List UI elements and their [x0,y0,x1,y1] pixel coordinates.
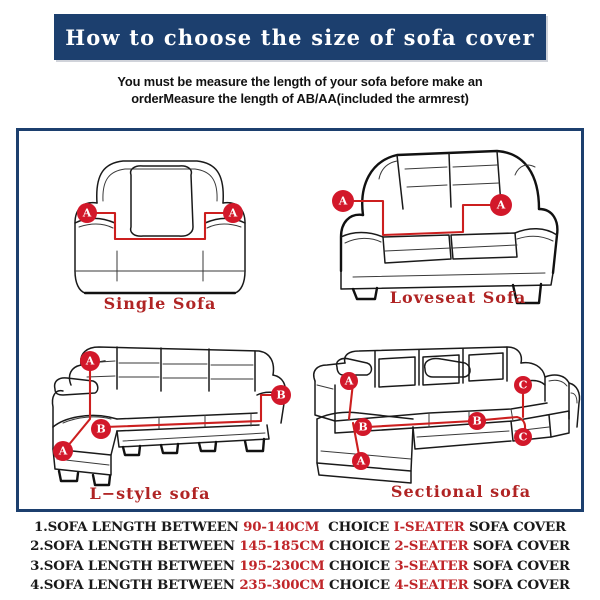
marker-a-right-label: A [228,207,238,220]
spec-list: 1.SOFA LENGTH BETWEEN 90-140CM CHOICE I-… [0,518,600,596]
spec-range: 90-140CM [243,519,319,535]
page-title: How to choose the size of sofa cover [65,25,535,50]
subtitle-line-2: orderMeasure the length of AB/AA(include… [65,90,535,107]
marker-b-middle: B [354,418,372,436]
spec-choice-word: CHOICE [329,558,390,574]
illustration-frame: A A Single Sofa [16,128,584,512]
marker-a-right: A [223,203,243,223]
marker-a-top: A [80,351,100,371]
marker-b-middle-label: B [96,423,105,436]
spec-row: 2.SOFA LENGTH BETWEEN 145-185CM CHOICE 2… [0,537,600,556]
spec-suffix: SOFA COVER [473,538,570,554]
marker-a-left: A [332,190,354,212]
single-sofa-measure-path [90,213,230,239]
title-banner: How to choose the size of sofa cover [54,14,546,60]
marker-c-top-label: C [519,379,528,392]
illustration-single-sofa: A A Single Sofa [19,131,301,323]
single-sofa-drawing [75,161,245,293]
spec-index: 1. [34,519,48,535]
marker-a-bottom: A [352,452,370,470]
spec-suffix: SOFA COVER [473,558,570,574]
spec-label: SOFA LENGTH BETWEEN [48,519,239,535]
marker-b-middle-label: B [358,421,367,434]
spec-seater: I-SEATER [394,519,465,535]
marker-a-bottom-label: A [356,455,366,468]
loveseat-measure-path [349,201,497,235]
spec-choice-word: CHOICE [329,577,390,593]
caption-single-sofa: Single Sofa [104,294,217,313]
marker-a-left-label: A [338,195,348,208]
header-banner-wrapper: How to choose the size of sofa cover [0,0,600,60]
marker-a-left: A [77,203,97,223]
subtitle-block: You must be measure the length of your s… [65,73,535,107]
caption-sectional-sofa: Sectional sofa [391,482,531,501]
marker-c-top: C [514,376,532,394]
marker-b-seat: B [468,412,486,430]
spec-seater: 4-SEATER [394,577,468,593]
spec-choice-word: CHOICE [329,538,390,554]
marker-c-right: C [514,428,532,446]
marker-c-right-label: C [519,431,528,444]
spec-label: SOFA LENGTH BETWEEN [44,538,235,554]
spec-suffix: SOFA COVER [473,577,570,593]
spec-range: 195-230CM [239,558,324,574]
marker-b-seat-label: B [472,415,481,428]
caption-loveseat-sofa: Loveseat Sofa [390,288,526,307]
spec-row: 1.SOFA LENGTH BETWEEN 90-140CM CHOICE I-… [0,518,600,537]
spec-range: 145-185CM [239,538,324,554]
spec-choice-word: CHOICE [328,519,389,535]
spec-row: 4.SOFA LENGTH BETWEEN 235-300CM CHOICE 4… [0,576,600,595]
illustration-lstyle-sofa: A B A B L−style sofa [19,323,301,509]
loveseat-sofa-drawing [341,151,557,303]
spec-row: 3.SOFA LENGTH BETWEEN 195-230CM CHOICE 3… [0,557,600,576]
spec-index: 4. [30,577,44,593]
marker-b-right: B [271,385,291,405]
marker-a-right: A [490,194,512,216]
spec-index: 3. [30,558,44,574]
marker-b-right-label: B [276,389,285,402]
illustration-sectional-sofa: A C B B A C Sectional sofa [301,323,583,509]
subtitle-line-1: You must be measure the length of your s… [65,73,535,90]
spec-seater: 3-SEATER [394,558,468,574]
marker-a-top-label: A [344,375,354,388]
spec-label: SOFA LENGTH BETWEEN [44,558,235,574]
sectional-measure-path [349,383,525,455]
spec-seater: 2-SEATER [394,538,468,554]
marker-a-right-label: A [496,199,506,212]
spec-label: SOFA LENGTH BETWEEN [44,577,235,593]
marker-a-bottom: A [53,441,73,461]
marker-a-left-label: A [82,207,92,220]
marker-a-top-label: A [85,355,95,368]
spec-index: 2. [30,538,44,554]
illustration-loveseat-sofa: A A Loveseat Sofa [301,131,583,323]
marker-a-bottom-label: A [58,445,68,458]
caption-lstyle-sofa: L−style sofa [89,484,210,503]
spec-range: 235-300CM [239,577,324,593]
marker-b-middle: B [91,419,111,439]
spec-suffix: SOFA COVER [469,519,566,535]
marker-a-top: A [340,372,358,390]
